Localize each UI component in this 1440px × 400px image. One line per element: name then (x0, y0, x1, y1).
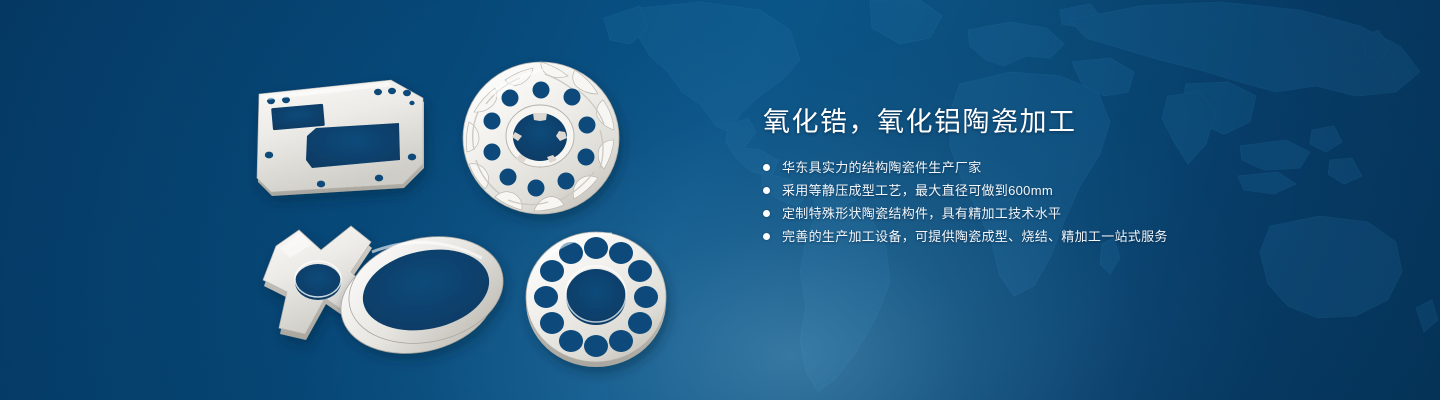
plate-cutout-left (271, 104, 325, 130)
disc-bore (566, 269, 626, 325)
cross-plate-bore (295, 264, 341, 300)
list-item: 采用等静压成型工艺，最大直径可做到600mm (763, 180, 1383, 201)
list-item: 定制特殊形状陶瓷结构件，具有精加工技术水平 (763, 203, 1383, 224)
bullet-dot-icon (763, 164, 770, 171)
feature-text: 华东具实力的结构陶瓷件生产厂家 (782, 157, 982, 178)
feature-text: 采用等静压成型工艺，最大直径可做到600mm (782, 180, 1053, 201)
product-images (0, 0, 740, 400)
bullet-dot-icon (763, 233, 770, 240)
banner-headline: 氧化锆，氧化铝陶瓷加工 (763, 105, 1383, 139)
list-item: 华东具实力的结构陶瓷件生产厂家 (763, 157, 1383, 178)
bullet-dot-icon (763, 187, 770, 194)
list-item: 完善的生产加工设备，可提供陶瓷成型、烧结、精加工一站式服务 (763, 226, 1383, 247)
feature-text: 完善的生产加工设备，可提供陶瓷成型、烧结、精加工一站式服务 (782, 226, 1168, 247)
product-illustrations-svg (0, 0, 740, 400)
bullet-dot-icon (763, 210, 770, 217)
ceramic-perforated-disc (526, 232, 666, 367)
plate-cutout-center (306, 123, 400, 168)
ceramic-impeller (463, 62, 619, 214)
banner-text-block: 氧化锆，氧化铝陶瓷加工 华东具实力的结构陶瓷件生产厂家 采用等静压成型工艺，最大… (763, 105, 1383, 249)
feature-list: 华东具实力的结构陶瓷件生产厂家 采用等静压成型工艺，最大直径可做到600mm 定… (763, 157, 1383, 247)
promo-banner: 氧化锆，氧化铝陶瓷加工 华东具实力的结构陶瓷件生产厂家 采用等静压成型工艺，最大… (0, 0, 1440, 400)
feature-text: 定制特殊形状陶瓷结构件，具有精加工技术水平 (782, 203, 1061, 224)
ceramic-mounting-plate (257, 80, 424, 196)
